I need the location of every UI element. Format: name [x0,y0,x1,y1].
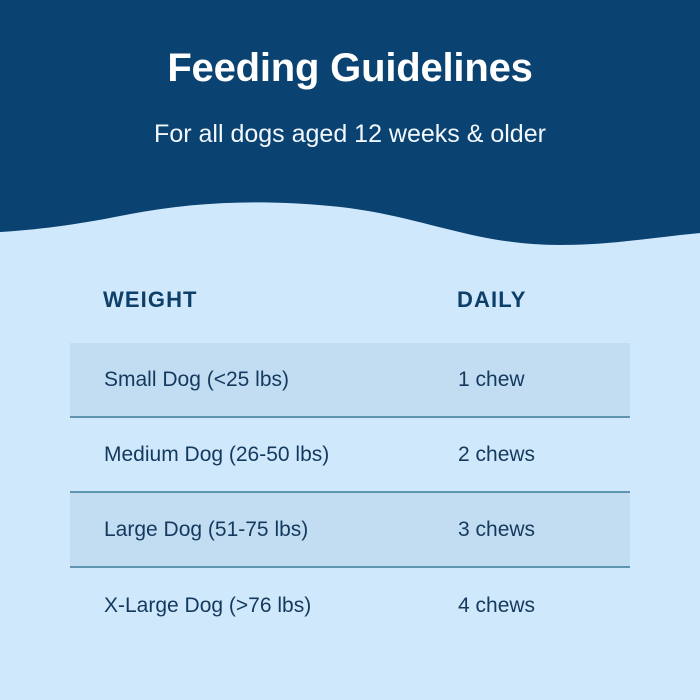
table-row: X-Large Dog (>76 lbs) 4 chews [70,568,630,643]
cell-weight: Large Dog (51-75 lbs) [104,516,308,544]
cell-weight: X-Large Dog (>76 lbs) [104,592,311,620]
table-row: Small Dog (<25 lbs) 1 chew [70,343,630,418]
page-title: Feeding Guidelines [0,44,700,92]
column-header-weight: WEIGHT [103,287,198,313]
table-row: Medium Dog (26-50 lbs) 2 chews [70,418,630,493]
cell-daily: 3 chews [458,516,535,544]
header-banner: Feeding Guidelines For all dogs aged 12 … [0,0,700,250]
cell-weight: Small Dog (<25 lbs) [104,366,289,394]
table-header-row: WEIGHT DAILY [70,275,630,343]
cell-daily: 1 chew [458,366,525,394]
page-subtitle: For all dogs aged 12 weeks & older [0,118,700,150]
feeding-guidelines-panel: Feeding Guidelines For all dogs aged 12 … [0,0,700,700]
cell-daily: 2 chews [458,441,535,469]
cell-weight: Medium Dog (26-50 lbs) [104,441,329,469]
cell-daily: 4 chews [458,592,535,620]
table-row: Large Dog (51-75 lbs) 3 chews [70,493,630,568]
column-header-daily: DAILY [457,287,526,313]
feeding-guidelines-table: WEIGHT DAILY Small Dog (<25 lbs) 1 chew … [70,275,630,643]
